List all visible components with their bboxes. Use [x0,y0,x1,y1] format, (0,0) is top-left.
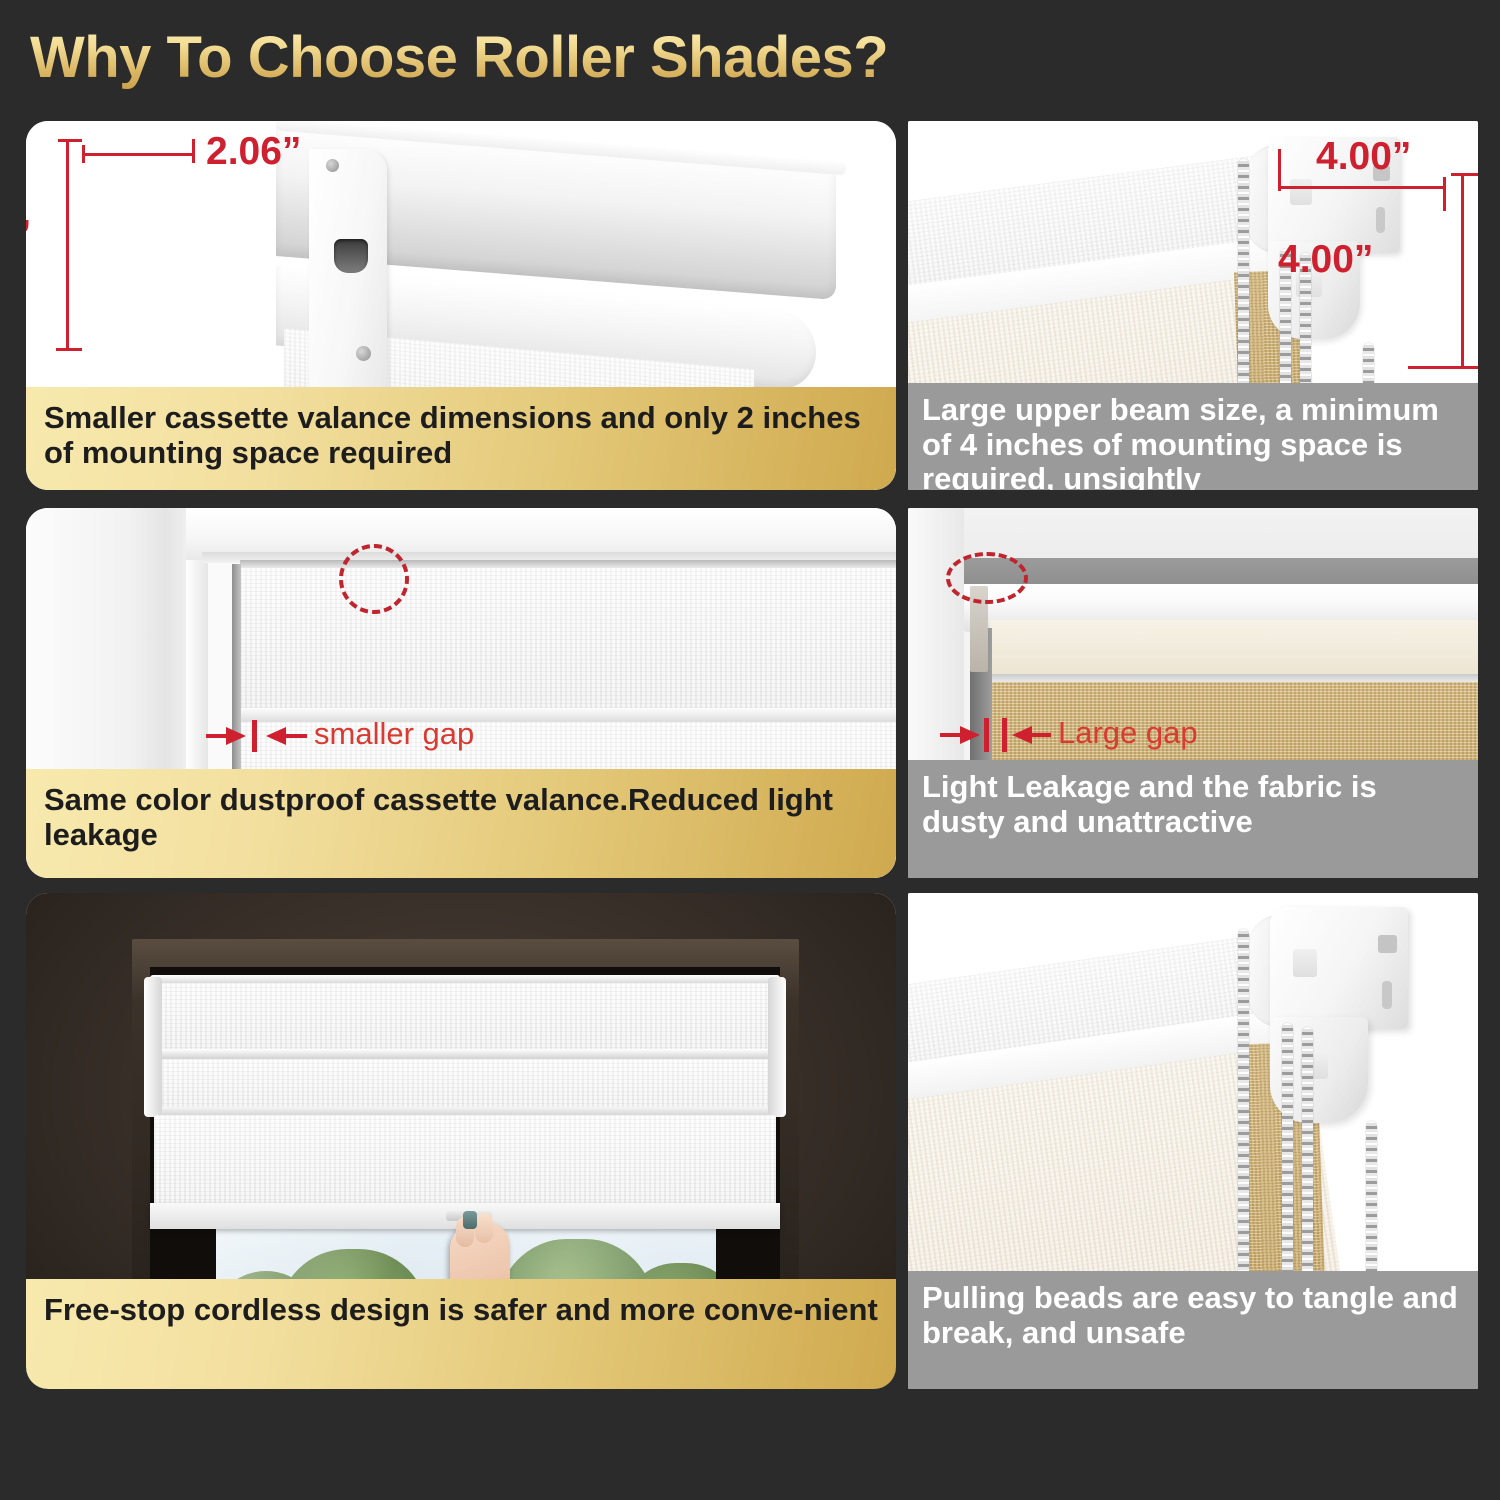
panel-pro-smaller-gap: smaller gap Same color dustproof cassett… [26,508,896,878]
caption-con-pulling-beads: Pulling beads are easy to tangle and bre… [908,1271,1478,1389]
beam-height-tick-bottom [1408,366,1478,369]
panel-con-pulling-beads: Pulling beads are easy to tangle and bre… [908,893,1478,1389]
height-measurement-label: 5.49” [26,213,31,257]
width-tick-right [192,139,195,163]
width-dimension-line [82,153,195,156]
gap-marker-bar-outer [984,718,989,752]
gap-arrow-right [1012,726,1032,744]
beam-height-dimension-line [1461,173,1464,369]
page-title: Why To Choose Roller Shades? [30,22,1130,94]
large-gap-label: Large gap [1058,715,1198,751]
caption-pro-cordless-window: Free-stop cordless design is safer and m… [26,1279,896,1389]
beam-width-measurement-label: 4.00” [1316,135,1411,179]
gap-arrow-right-tail [1031,733,1051,737]
gap-arrow-left [960,726,980,744]
panel-con-large-beam: 4.00” 4.00” Large upper beam size, a min… [908,121,1478,490]
gap-arrow-left [226,727,246,745]
beam-width-tick-right [1443,177,1446,211]
gap-arrow-left-tail [206,734,228,738]
height-tick-top [58,139,82,142]
height-dimension-line [66,139,69,351]
panel-con-large-gap: Large gap Light Leakage and the fabric i… [908,508,1478,878]
gap-arrow-right-tail [285,734,307,738]
infographic-root: Why To Choose Roller Shades? [0,0,1500,1500]
gap-marker-bar [252,720,257,752]
gap-marker-bar-inner [1002,718,1007,752]
panel-pro-cassette-dimensions: 2.06” 5.49” Smaller cassette valance dim… [26,121,896,490]
highlight-circle [339,544,409,614]
width-measurement-label: 2.06” [206,130,301,174]
beam-width-tick-left [1278,149,1281,191]
height-tick-bottom [56,348,82,351]
panel-pro-cordless-window: Free-stop cordless design is safer and m… [26,893,896,1389]
smaller-gap-label: smaller gap [314,716,474,752]
gap-arrow-left-tail [940,733,962,737]
width-tick-left [82,145,85,163]
beam-height-measurement-label: 4.00” [1278,238,1373,282]
highlight-circle [946,552,1028,604]
beam-width-dimension-line [1278,186,1446,189]
caption-con-large-gap: Light Leakage and the fabric is dusty an… [908,760,1478,878]
caption-pro-cassette-dimensions: Smaller cassette valance dimensions and … [26,387,896,490]
gap-arrow-right [266,727,286,745]
caption-pro-smaller-gap: Same color dustproof cassette valance.Re… [26,769,896,878]
caption-con-large-beam: Large upper beam size, a minimum of 4 in… [908,383,1478,490]
beam-height-tick-top [1451,173,1478,176]
